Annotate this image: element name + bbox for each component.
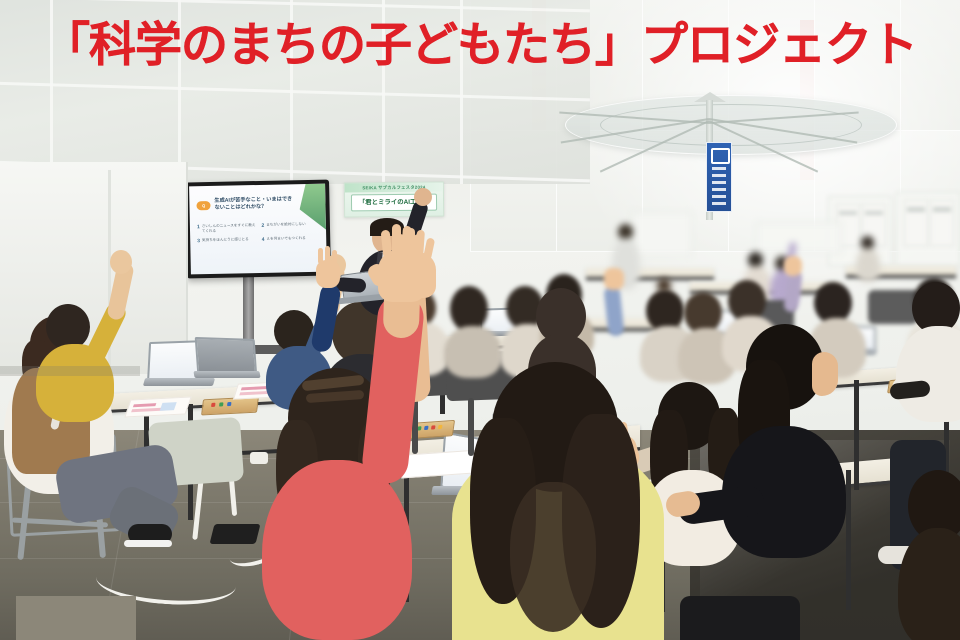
leaflet xyxy=(124,396,192,417)
slide-item-number: 3 xyxy=(197,238,200,244)
slide-badge: Q xyxy=(196,201,210,210)
slide-item-text: えを何まいでもつくれる xyxy=(266,236,305,243)
slide-item-number: 4 xyxy=(262,237,265,243)
wall-shadow xyxy=(0,366,140,376)
slide-canvas: Q 生成AIが苦手なこと・いまはできないことはどれかな？ 1 さいしんのニュース… xyxy=(189,184,327,275)
power-strip xyxy=(250,452,268,464)
glass-partition xyxy=(0,0,590,184)
slide-item-number: 1 xyxy=(197,224,200,233)
slide-item-number: 2 xyxy=(261,223,264,232)
floor-foreground xyxy=(16,596,136,640)
laptop-base xyxy=(193,371,260,378)
presentation-screen: Q 生成AIが苦手なこと・いまはできないことはどれかな？ 1 さいしんのニュース… xyxy=(185,180,331,279)
laptop-base xyxy=(143,378,215,386)
photo-screenshot: Q 生成AIが苦手なこと・いまはできないことはどれかな？ 1 さいしんのニュース… xyxy=(0,0,960,640)
slide-title: 生成AIが苦手なこと・いまはできないことはどれかな？ xyxy=(214,196,295,212)
chair-leg xyxy=(468,398,474,456)
slide-item: 1 さいしんのニュースをすぐに教えてくれる xyxy=(197,223,256,233)
shoe-sole xyxy=(124,540,172,547)
background-booth xyxy=(632,212,692,256)
slide-item-list: 1 さいしんのニュースをすぐに教えてくれる 2 まちがいを絶対にしない 3 気持… xyxy=(197,222,320,245)
slide-item-text: まちがいを絶対にしない xyxy=(266,222,306,232)
slide-item: 4 えを何まいでもつくれる xyxy=(262,236,321,243)
bag xyxy=(680,596,800,640)
canopy-inner-ring xyxy=(600,104,862,146)
background-counter xyxy=(756,222,842,254)
slide-item-text: 気持ちをほんとうに感じとる xyxy=(202,237,249,244)
slide-item: 3 気持ちをほんとうに感じとる xyxy=(197,237,256,244)
wooden-tray xyxy=(201,396,259,415)
hanging-sign xyxy=(706,142,732,212)
slide-item: 2 まちがいを絶対にしない xyxy=(261,222,320,232)
photograph: Q 生成AIが苦手なこと・いまはできないことはどれかな？ 1 さいしんのニュース… xyxy=(0,0,960,640)
slide-item-text: さいしんのニュースをすぐに教えてくれる xyxy=(202,223,256,233)
